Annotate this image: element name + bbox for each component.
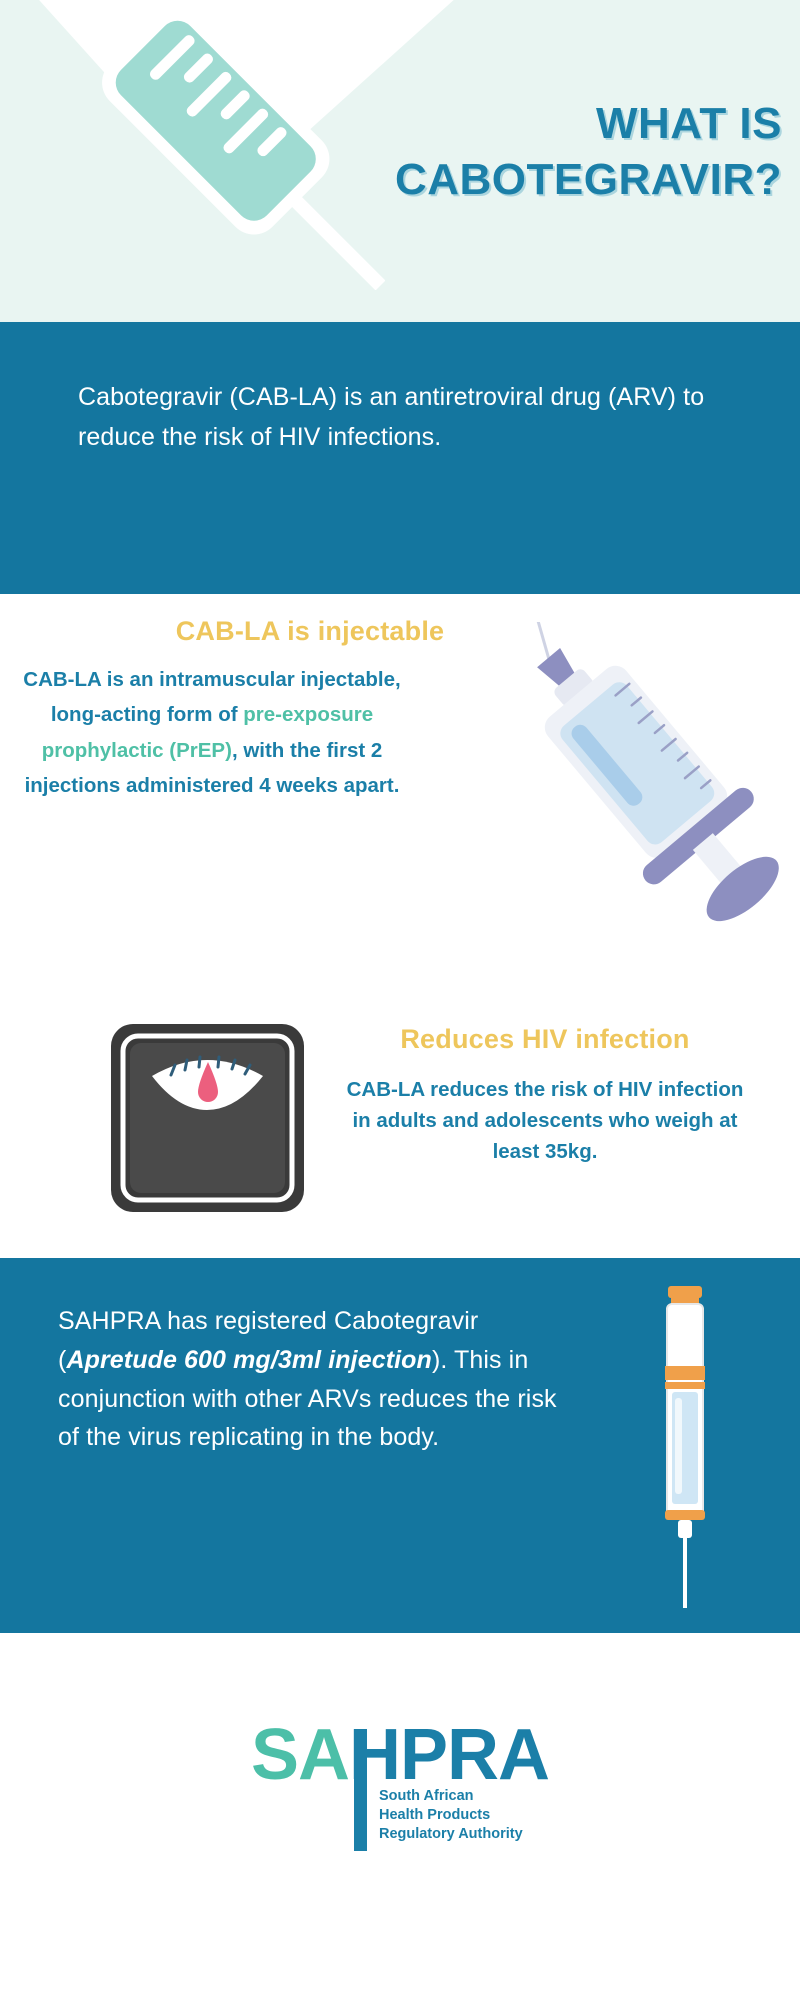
registration-text: SAHPRA has registered Cabotegravir (Apre… [58, 1302, 570, 1457]
logo-subtitle-line-3: Regulatory Authority [379, 1825, 523, 1844]
injectable-section: CAB-LA is injectable CAB-LA is an intram… [0, 594, 800, 1006]
registration-emphasis: Apretude 600 mg/3ml injection [66, 1346, 432, 1374]
weight-scale-icon [105, 1018, 310, 1218]
logo-text-sa: SA [251, 1721, 349, 1789]
reduces-body: CAB-LA reduces the risk of HIV infection… [340, 1074, 780, 1167]
page-title: WHAT IS CABOTEGRAVIR? [222, 96, 782, 209]
footer-section: SAHPRA South African Health Products Reg… [0, 1633, 800, 2000]
injectable-body: CAB-LA is an intramuscular injectable, l… [22, 662, 402, 803]
syringe-icon [400, 622, 800, 952]
intro-band: Cabotegravir (CAB-LA) is an antiretrovir… [0, 322, 800, 594]
reduces-section: Reduces HIV infection CAB-LA reduces the… [0, 1006, 800, 1258]
logo-subtitle: South African Health Products Regulatory… [379, 1787, 523, 1844]
logo-vertical-bar [354, 1729, 367, 1851]
logo-subtitle-line-2: Health Products [379, 1806, 523, 1825]
registration-band: SAHPRA has registered Cabotegravir (Apre… [0, 1258, 800, 1633]
sahpra-logo: SAHPRA South African Health Products Reg… [0, 1721, 800, 1789]
reduces-heading: Reduces HIV infection [330, 1024, 790, 1055]
vial-syringe-icon [652, 1282, 718, 1612]
hero-section: WHAT IS CABOTEGRAVIR? [0, 0, 800, 322]
logo-subtitle-line-1: South African [379, 1787, 523, 1806]
intro-text: Cabotegravir (CAB-LA) is an antiretrovir… [78, 378, 730, 457]
title-line-2: CABOTEGRAVIR? [222, 152, 782, 208]
title-line-1: WHAT IS [596, 99, 782, 148]
infographic-page: WHAT IS CABOTEGRAVIR? Cabotegravir (CAB-… [0, 0, 800, 2000]
logo-text-hpra: HPRA [349, 1721, 549, 1789]
